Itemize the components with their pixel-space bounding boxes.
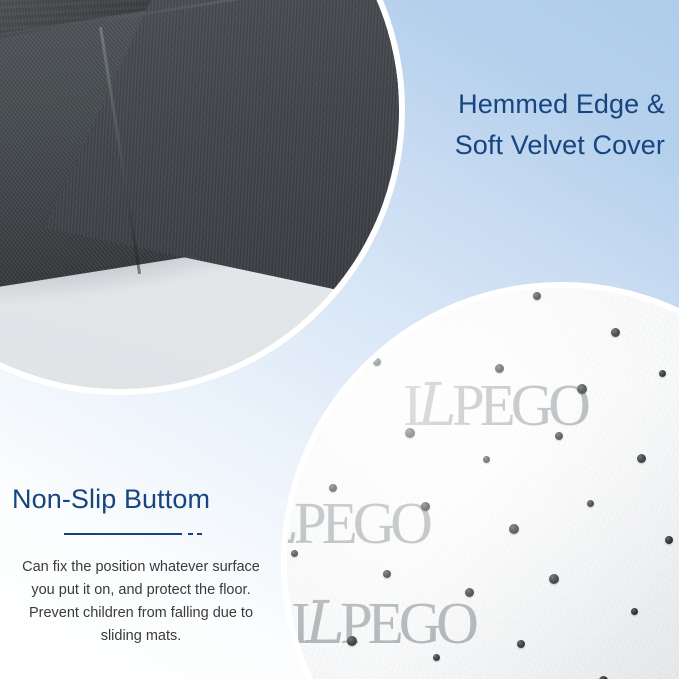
anti-slip-dot xyxy=(439,306,446,313)
anti-slip-dot xyxy=(301,410,310,419)
product-feature-image: Hemmed Edge & Soft Velvet Cover Non-Slip… xyxy=(0,0,679,679)
hemmed-edge-heading-line-2: Soft Velvet Cover xyxy=(305,125,665,166)
brand-logo-mark-1: ILPEGO xyxy=(403,370,586,440)
anti-slip-dot xyxy=(555,432,563,440)
brand-logo-mark-3: ILPEGO xyxy=(291,588,474,658)
anti-slip-dot xyxy=(465,588,474,597)
anti-slip-dot xyxy=(421,502,430,511)
non-slip-description-line-2: you put it on, and protect the floor. xyxy=(12,579,270,602)
anti-slip-dot xyxy=(665,536,673,544)
anti-slip-dot xyxy=(495,364,504,373)
anti-slip-dot xyxy=(373,358,381,366)
anti-slip-dot xyxy=(347,636,357,646)
divider-dash-2 xyxy=(197,533,202,535)
anti-slip-dot xyxy=(405,428,415,438)
brand-logo-mark-2: ILPEGO xyxy=(281,488,428,558)
anti-slip-dot xyxy=(611,328,620,337)
non-slip-text-block: Non-Slip Buttom Can fix the position wha… xyxy=(12,482,270,648)
non-slip-description: Can fix the position whatever surface yo… xyxy=(12,556,270,648)
anti-slip-dot xyxy=(383,570,391,578)
non-slip-description-line-3: Prevent children from falling due to xyxy=(12,602,270,625)
hemmed-edge-heading: Hemmed Edge & Soft Velvet Cover xyxy=(305,84,665,166)
non-slip-description-line-4: sliding mats. xyxy=(12,625,270,648)
anti-slip-dot xyxy=(533,292,541,300)
divider-rule xyxy=(64,533,182,535)
title-divider xyxy=(64,530,212,538)
anti-slip-dot xyxy=(577,384,587,394)
non-slip-description-line-1: Can fix the position whatever surface xyxy=(12,556,270,579)
non-slip-backing-surface: ILPEGO ILPEGO ILPEGO xyxy=(287,288,679,679)
anti-slip-dot xyxy=(291,550,298,557)
divider-dash-1 xyxy=(188,533,193,535)
hemmed-edge-heading-line-1: Hemmed Edge & xyxy=(305,84,665,125)
anti-slip-dot xyxy=(549,574,559,584)
anti-slip-dot xyxy=(631,608,638,615)
anti-slip-dot xyxy=(587,500,594,507)
anti-slip-dot xyxy=(329,484,337,492)
anti-slip-dot xyxy=(517,640,525,648)
anti-slip-dot xyxy=(637,454,646,463)
anti-slip-dot xyxy=(659,370,666,377)
anti-slip-dot xyxy=(483,456,490,463)
anti-slip-dot xyxy=(509,524,519,534)
non-slip-title: Non-Slip Buttom xyxy=(12,482,270,516)
non-slip-backing-photo-circle: ILPEGO ILPEGO ILPEGO xyxy=(281,282,679,679)
anti-slip-dot xyxy=(433,654,440,661)
